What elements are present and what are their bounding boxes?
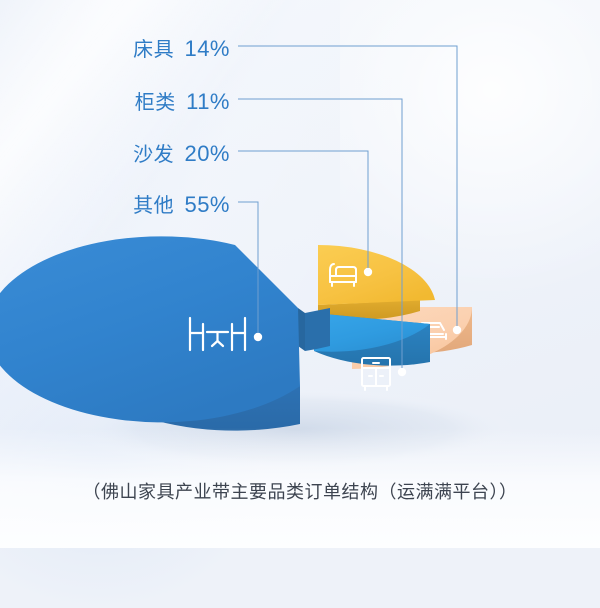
pie-dot-bed (453, 326, 461, 334)
legend-label-other: 其他 (133, 195, 174, 217)
legend-label-cabinet: 柜类 (135, 92, 176, 114)
pie-dot-cabinet (398, 368, 406, 376)
legend-item-cabinet[interactable]: 柜类 11% (0, 86, 230, 115)
pie-dot-sofa (364, 268, 372, 276)
legend-item-bed[interactable]: 床具 14% (0, 33, 230, 62)
pie-slice-other-top (0, 236, 300, 422)
legend-percent-sofa: 20% (180, 141, 230, 166)
chart-caption: （佛山家具产业带主要品类订单结构（运满满平台）） (0, 478, 600, 504)
pie-slice-other-cut-face (298, 308, 305, 351)
legend-item-other[interactable]: 其他 55% (0, 189, 230, 218)
pie-dot-other (254, 333, 262, 341)
pie-slice-sofa[interactable] (318, 245, 435, 320)
legend-percent-other: 55% (180, 192, 230, 217)
legend-label-sofa: 沙发 (133, 144, 174, 166)
legend-percent-bed: 14% (180, 36, 230, 61)
pie-slice-cabinet[interactable] (314, 313, 430, 390)
legend-percent-cabinet: 11% (182, 89, 230, 114)
chart-canvas: 床具 14% 柜类 11% 沙发 20% 其他 55% （佛山家具产业带主要品类… (0, 0, 600, 548)
pie-slice-other-cut-face-2 (305, 308, 330, 351)
legend-label-bed: 床具 (133, 39, 174, 61)
pie-chart-3d (0, 0, 600, 548)
legend-item-sofa[interactable]: 沙发 20% (0, 138, 230, 167)
